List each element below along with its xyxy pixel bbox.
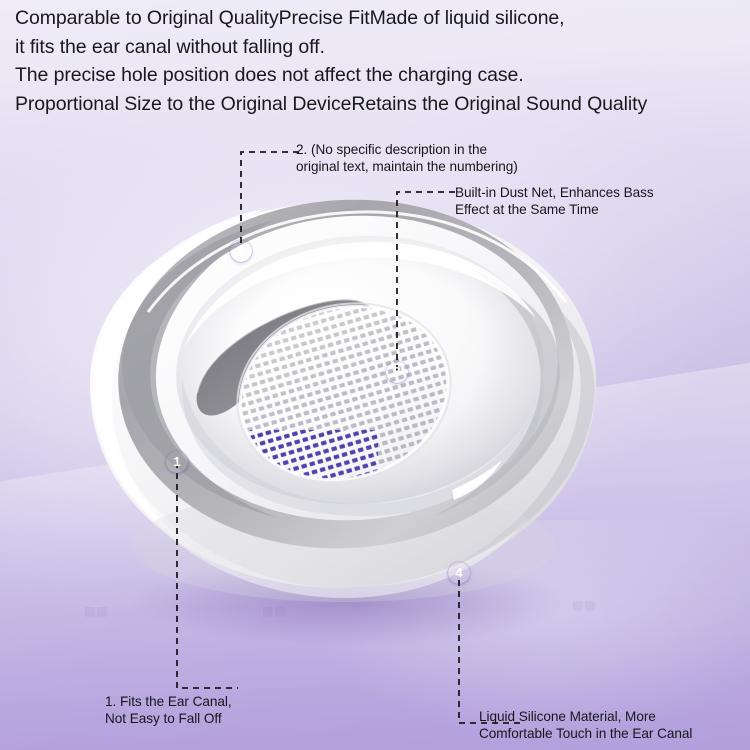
header-line-3: The precise hole position does not affec… [15, 61, 743, 90]
marker-3[interactable]: 3 [386, 361, 408, 383]
marker-1[interactable]: 1 [166, 451, 188, 473]
earbud-product-illustration [78, 178, 606, 646]
header-description: Comparable to Original QualityPrecise Fi… [15, 4, 743, 118]
marker-2[interactable]: 2 [230, 240, 252, 262]
callout-text-1: 1. Fits the Ear Canal, Not Easy to Fall … [105, 693, 232, 728]
header-line-4: Proportional Size to the Original Device… [15, 90, 743, 119]
marker-4[interactable]: 4 [448, 562, 470, 584]
callout-text-3: Built-in Dust Net, Enhances Bass Effect … [455, 184, 654, 219]
callout-text-4: Liquid Silicone Material, More Comfortab… [479, 708, 692, 743]
callout-text-2: 2. (No specific description in the origi… [296, 141, 518, 176]
header-line-2: it fits the ear canal without falling of… [15, 33, 743, 62]
header-line-1: Comparable to Original QualityPrecise Fi… [15, 4, 743, 33]
product-feature-infographic: Comparable to Original QualityPrecise Fi… [0, 0, 750, 750]
